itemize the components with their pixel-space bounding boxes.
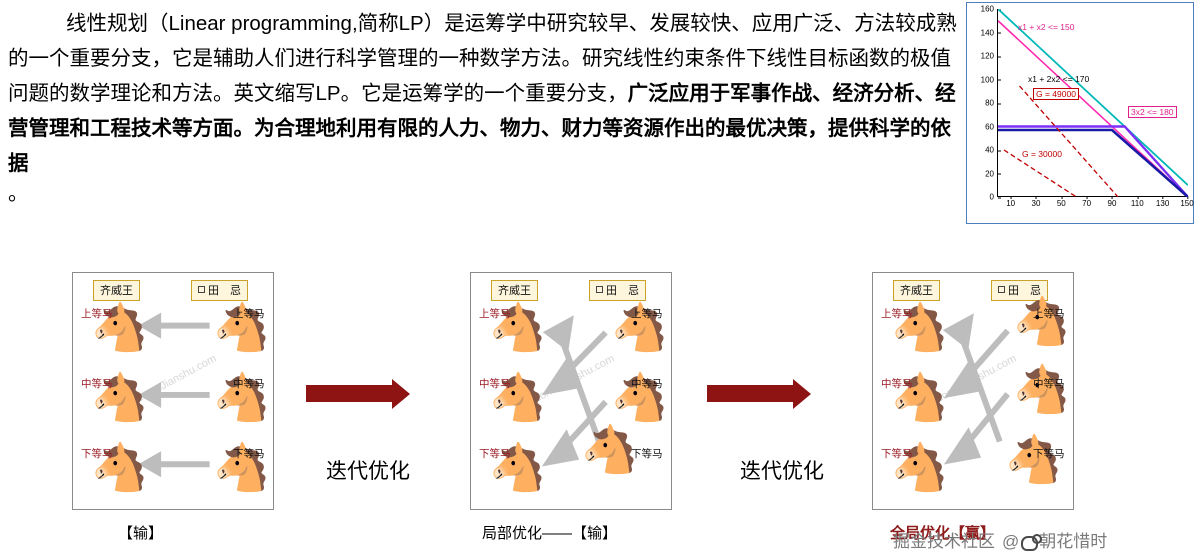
chart-ytick: 120 — [981, 52, 998, 61]
chart-annotation-x1x2-150: x1 + x2 <= 150 — [1018, 22, 1074, 32]
chart-xtick: 50 — [1057, 196, 1066, 208]
chart-ytick: 80 — [985, 99, 998, 108]
label-left-grade: 中等马 — [881, 376, 913, 391]
panel-global-optimization: 齐威王 田 忌 Zone.Jianshu.com 🐴 🐴 🐴 🐴 🐴 🐴 上等马… — [872, 272, 1074, 510]
chart-xtick: 110 — [1131, 196, 1144, 208]
chart-ytick: 40 — [985, 146, 998, 155]
label-right-grade: 下等马 — [233, 446, 265, 461]
chart-annotation-g-30000: G = 30000 — [1022, 149, 1062, 159]
chart-xtick: 30 — [1032, 196, 1041, 208]
label-left-grade: 中等马 — [479, 376, 511, 391]
chart-xtick: 70 — [1082, 196, 1091, 208]
chart-annotation-g-49000: G = 49000 — [1033, 88, 1079, 100]
chart-xtick: 10 — [1006, 196, 1015, 208]
chart-ytick: 160 — [981, 5, 998, 14]
paragraph-text-tail: 。 — [8, 181, 963, 207]
label-right-grade: 中等马 — [1033, 376, 1065, 391]
label-left-grade: 上等马 — [881, 306, 913, 321]
label-left-grade: 上等马 — [479, 306, 511, 321]
brand-site: 掘金技术社区 — [893, 532, 995, 551]
horse-black: 🐴 — [1013, 295, 1059, 347]
label-right-grade: 上等马 — [631, 306, 663, 321]
chart-ytick: 0 — [990, 193, 998, 202]
chart-xtick: 150 — [1180, 196, 1193, 208]
label-left-grade: 下等马 — [81, 446, 113, 461]
slide-page: 线性规划（Linear programming,简称LP）是运筹学中研究较早、发… — [0, 0, 1196, 555]
label-left-grade: 下等马 — [479, 446, 511, 461]
chart-ytick: 20 — [985, 169, 998, 178]
chart-plot-area: 0 20 40 60 80 100 120 140 160 10 30 50 7… — [997, 9, 1187, 197]
label-left-grade: 下等马 — [881, 446, 913, 461]
label-right-grade: 中等马 — [233, 376, 265, 391]
caption-panel-2: 局部优化——【输】 — [482, 522, 617, 543]
chart-annotation-x1-2x2-170: x1 + 2x2 <= 170 — [1028, 74, 1089, 84]
brand-at: @ — [1002, 532, 1019, 551]
iteration-label-1: 迭代优化 — [326, 455, 410, 485]
chart-xtick: 130 — [1156, 196, 1169, 208]
caption-panel-1: 【输】 — [118, 522, 163, 543]
label-right-grade: 下等马 — [631, 446, 663, 461]
label-right-grade: 上等马 — [233, 306, 265, 321]
brand-author: 朝花惜时 — [1039, 532, 1107, 551]
transition-arrow-2 — [707, 385, 793, 402]
brand-logo-icon — [1019, 534, 1039, 550]
chart-xtick: 90 — [1108, 196, 1117, 208]
label-left-grade: 上等马 — [81, 306, 113, 321]
chart-ytick: 140 — [981, 28, 998, 37]
panel-local-optimization: 齐威王 田 忌 Zone.Jianshu.com 🐴 🐴 🐴 🐴 🐴 🐴 上等马… — [470, 272, 672, 510]
linear-programming-chart: 0 20 40 60 80 100 120 140 160 10 30 50 7… — [966, 2, 1194, 224]
label-left-grade: 中等马 — [81, 376, 113, 391]
page-paragraph: 线性规划（Linear programming,简称LP）是运筹学中研究较早、发… — [8, 6, 963, 207]
iteration-label-2: 迭代优化 — [740, 455, 824, 485]
label-right-grade: 上等马 — [1033, 306, 1065, 321]
label-right-grade: 中等马 — [631, 376, 663, 391]
chart-annotation-3x2-180: 3x2 <= 180 — [1128, 106, 1177, 118]
horse-black: 🐴 — [581, 423, 627, 475]
transition-arrow-1 — [306, 385, 392, 402]
chart-ytick: 60 — [985, 122, 998, 131]
brand-watermark: 掘金技术社区@朝花惜时 — [893, 527, 1107, 552]
panel-initial-arrangement: 齐威王 田 忌 Zone.Jianshu.com 🐴 🐴 🐴 🐴 🐴 🐴 上等马… — [72, 272, 274, 510]
chart-ytick: 100 — [981, 75, 998, 84]
label-right-grade: 下等马 — [1033, 446, 1065, 461]
chart-series-svg — [998, 9, 1188, 197]
